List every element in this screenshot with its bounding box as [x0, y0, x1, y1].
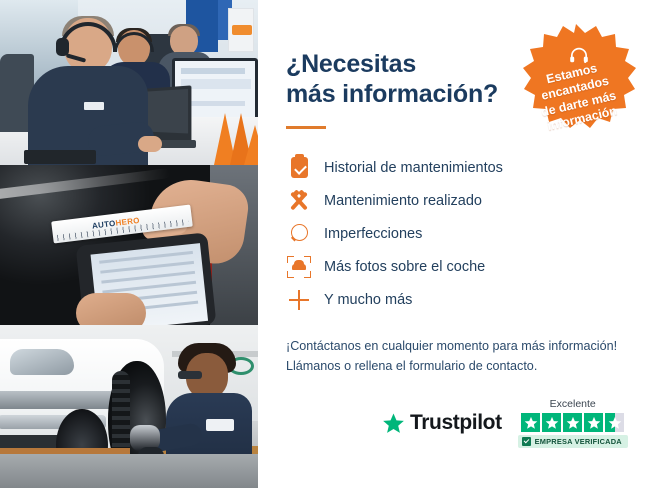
- verified-company-badge: EMPRESA VERIFICADA: [518, 435, 628, 448]
- photo-collage: AUTOHERO: [0, 0, 258, 488]
- list-item: Mantenimiento realizado: [286, 184, 624, 217]
- support-badge: Estamos encantados de darte más informac…: [512, 22, 642, 160]
- photo-cones: [214, 69, 258, 165]
- trustpilot-rating-label: Excelente: [550, 398, 596, 410]
- plus-icon: [286, 287, 312, 313]
- star-5-half: [605, 413, 624, 432]
- page-title-line-2: más información?: [286, 80, 498, 108]
- list-item-label: Mantenimiento realizado: [324, 193, 482, 209]
- page-title-line-1: ¿Necesitas: [286, 50, 416, 78]
- list-item-label: Historial de mantenimientos: [324, 160, 503, 176]
- photo-agent-1: [26, 18, 150, 165]
- photo-poster: [228, 8, 254, 52]
- list-item-label: Más fotos sobre el coche: [324, 259, 485, 275]
- star-4: [584, 413, 603, 432]
- photo-keyboard: [24, 150, 96, 164]
- car-frame-icon: [286, 254, 312, 280]
- list-item-label: Y mucho más: [324, 292, 412, 308]
- trustpilot-wordmark: Trustpilot: [410, 411, 502, 435]
- star-1: [521, 413, 540, 432]
- content-panel: ¿Necesitas más información? Historial de…: [258, 0, 650, 488]
- list-item: Y mucho más: [286, 283, 624, 316]
- page-title: ¿Necesitas más información?: [286, 50, 516, 109]
- list-item-label: Imperfecciones: [324, 226, 422, 242]
- check-icon: [522, 437, 531, 446]
- information-cta-card: AUTOHERO: [0, 0, 650, 488]
- tools-icon: [286, 188, 312, 214]
- headset-icon: [569, 47, 589, 63]
- trustpilot-star-icon: [382, 412, 405, 435]
- contact-line-2: Llámanos o rellena el formulario de cont…: [286, 356, 624, 376]
- star-2: [542, 413, 561, 432]
- clipboard-check-icon: [286, 155, 312, 181]
- feature-list: Historial de mantenimientos Mantenimient…: [286, 151, 624, 316]
- trustpilot-stars: [521, 413, 624, 432]
- photo-lift-floor: [0, 454, 258, 488]
- contact-line-1: ¡Contáctanos en cualquier momento para m…: [286, 336, 624, 356]
- verified-label: EMPRESA VERIFICADA: [535, 437, 622, 446]
- workshop-wheel-check-photo: [0, 325, 258, 488]
- trustpilot-logo: Trustpilot: [382, 411, 502, 435]
- trustpilot-score: Excelente EMPRESA VERIFICADA: [518, 398, 628, 448]
- magnifier-icon: [286, 221, 312, 247]
- photo-hand-lower: [76, 293, 146, 325]
- star-3: [563, 413, 582, 432]
- list-item: Más fotos sobre el coche: [286, 250, 624, 283]
- trustpilot-rating[interactable]: Trustpilot Excelente EMPRESA VERIFICADA: [382, 398, 628, 448]
- call-center-agents-photo: [0, 0, 258, 165]
- contact-text: ¡Contáctanos en cualquier momento para m…: [286, 336, 624, 377]
- list-item: Imperfecciones: [286, 217, 624, 250]
- car-inspection-ruler-photo: AUTOHERO: [0, 165, 258, 325]
- title-divider: [286, 126, 326, 129]
